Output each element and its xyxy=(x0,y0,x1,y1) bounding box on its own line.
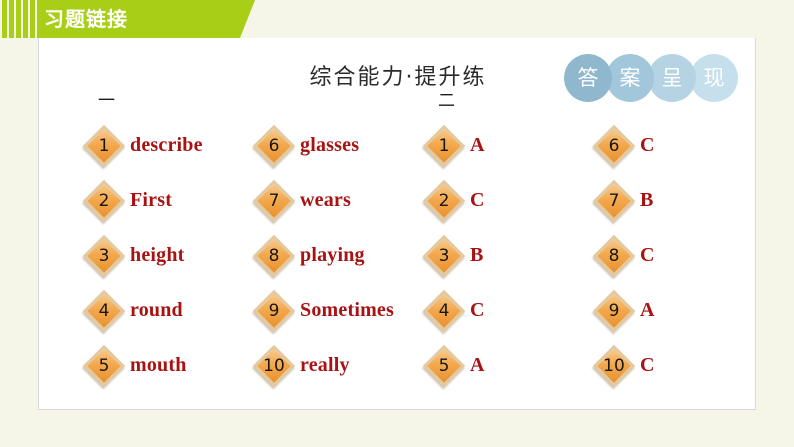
diamond-marker: 4 xyxy=(84,291,124,331)
diamond-number: 6 xyxy=(254,126,294,166)
answer-row: 7 wears xyxy=(254,173,424,228)
diamond-number: 5 xyxy=(424,346,464,386)
diamond-number: 10 xyxy=(594,346,634,386)
diamond-marker: 5 xyxy=(84,346,124,386)
diamond-number: 9 xyxy=(254,291,294,331)
answer-text: C xyxy=(470,299,485,322)
diamond-number: 3 xyxy=(424,236,464,276)
badge-circle-2: 案 xyxy=(606,54,654,102)
diamond-marker: 7 xyxy=(254,181,294,221)
diamond-number: 8 xyxy=(254,236,294,276)
answer-text: Sometimes xyxy=(300,299,394,322)
answer-text: round xyxy=(130,299,183,322)
answer-row: 1 describe xyxy=(84,118,254,173)
answer-text: A xyxy=(470,134,485,157)
diamond-number: 1 xyxy=(424,126,464,166)
diamond-number: 2 xyxy=(424,181,464,221)
diamond-number: 7 xyxy=(594,181,634,221)
answer-text: height xyxy=(130,244,185,267)
diamond-marker: 2 xyxy=(84,181,124,221)
answer-text: First xyxy=(130,189,172,212)
diamond-marker: 4 xyxy=(424,291,464,331)
diamond-marker: 2 xyxy=(424,181,464,221)
answer-row: 8 playing xyxy=(254,228,424,283)
diamond-marker: 9 xyxy=(254,291,294,331)
answer-text: playing xyxy=(300,244,365,267)
answer-row: 3 height xyxy=(84,228,254,283)
diamond-number: 7 xyxy=(254,181,294,221)
answer-row: 9 A xyxy=(594,283,764,338)
content-card: 综合能力·提升练 答 案 呈 现 一 1 describe 2 F xyxy=(38,38,756,410)
diamond-number: 9 xyxy=(594,291,634,331)
badge-circle-1: 答 xyxy=(564,54,612,102)
answer-row: 3 B xyxy=(424,228,594,283)
diamond-number: 5 xyxy=(84,346,124,386)
answer-text: A xyxy=(470,354,485,377)
diamond-marker: 1 xyxy=(84,126,124,166)
diamond-marker: 6 xyxy=(594,126,634,166)
diamond-marker: 9 xyxy=(594,291,634,331)
answer-reveal-badge[interactable]: 答 案 呈 现 xyxy=(564,54,750,102)
diamond-marker: 5 xyxy=(424,346,464,386)
diamond-number: 1 xyxy=(84,126,124,166)
header-banner: 习题链接 xyxy=(0,0,270,38)
answer-row: 4 round xyxy=(84,283,254,338)
answer-row: 5 A xyxy=(424,338,594,393)
answer-row: 8 C xyxy=(594,228,764,283)
answer-text: C xyxy=(640,244,655,267)
answer-row: 2 First xyxy=(84,173,254,228)
answer-column-2: 6 glasses 7 wears 8 playing xyxy=(254,86,424,393)
diamond-marker: 8 xyxy=(254,236,294,276)
answer-text: C xyxy=(640,134,655,157)
diamond-number: 6 xyxy=(594,126,634,166)
answer-text: A xyxy=(640,299,655,322)
answer-row: 4 C xyxy=(424,283,594,338)
diamond-marker: 10 xyxy=(254,346,294,386)
answer-text: C xyxy=(640,354,655,377)
diamond-number: 10 xyxy=(254,346,294,386)
diamond-marker: 7 xyxy=(594,181,634,221)
diamond-marker: 3 xyxy=(84,236,124,276)
answer-row: 6 C xyxy=(594,118,764,173)
answer-row: 6 glasses xyxy=(254,118,424,173)
answer-text: B xyxy=(640,189,654,212)
banner-background-shape xyxy=(0,0,270,38)
answer-row: 5 mouth xyxy=(84,338,254,393)
answer-text: B xyxy=(470,244,484,267)
answer-row: 1 A xyxy=(424,118,594,173)
answer-row: 9 Sometimes xyxy=(254,283,424,338)
diamond-number: 4 xyxy=(424,291,464,331)
banner-title: 习题链接 xyxy=(44,5,128,33)
section-label-spacer xyxy=(254,86,424,118)
diamond-number: 8 xyxy=(594,236,634,276)
diamond-marker: 8 xyxy=(594,236,634,276)
answer-grid: 一 1 describe 2 First 3 xyxy=(39,86,757,406)
answer-row: 10 C xyxy=(594,338,764,393)
diamond-number: 3 xyxy=(84,236,124,276)
badge-circle-4: 现 xyxy=(690,54,738,102)
answer-row: 2 C xyxy=(424,173,594,228)
diamond-marker: 1 xyxy=(424,126,464,166)
diamond-number: 4 xyxy=(84,291,124,331)
diamond-marker: 3 xyxy=(424,236,464,276)
diamond-marker: 6 xyxy=(254,126,294,166)
answer-text: C xyxy=(470,189,485,212)
answer-column-1: 一 1 describe 2 First 3 xyxy=(84,86,254,393)
answer-text: mouth xyxy=(130,354,187,377)
badge-circle-3: 呈 xyxy=(648,54,696,102)
answer-column-3: 二 1 A 2 C 3 B xyxy=(424,86,594,393)
answer-text: describe xyxy=(130,134,203,157)
answer-column-4: 6 C 7 B 8 C 9 xyxy=(594,86,764,393)
answer-text: glasses xyxy=(300,134,359,157)
answer-text: really xyxy=(300,354,350,377)
diamond-marker: 10 xyxy=(594,346,634,386)
section-label-one: 一 xyxy=(84,86,254,118)
diamond-number: 2 xyxy=(84,181,124,221)
answer-row: 7 B xyxy=(594,173,764,228)
answer-text: wears xyxy=(300,189,351,212)
answer-row: 10 really xyxy=(254,338,424,393)
